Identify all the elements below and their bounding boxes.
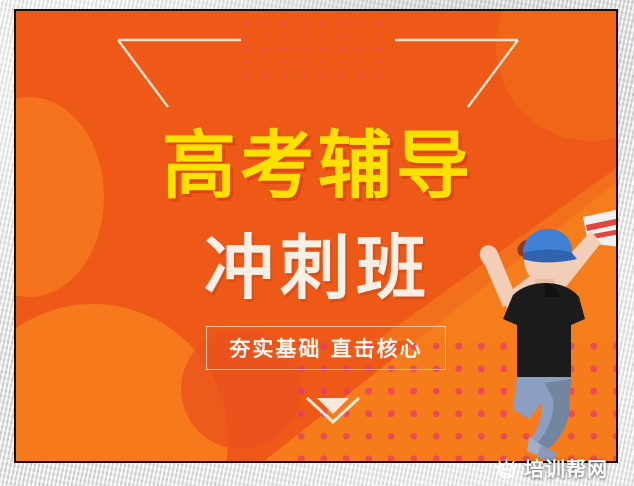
down-chevron-icon [303, 392, 363, 432]
page-title: 高考辅导 [16, 126, 616, 206]
dot-grid-top [235, 13, 383, 77]
watermark: 培训帮网 [495, 455, 608, 483]
poster-card: 高考辅导 冲刺班 夯实基础 直击核心 [14, 9, 618, 463]
tagline-text: 夯实基础 直击核心 [229, 333, 422, 363]
page-background: 高考辅导 冲刺班 夯实基础 直击核心 培训帮网 [0, 0, 634, 486]
sun-face-icon [495, 458, 518, 481]
page-subtitle: 冲刺班 [16, 230, 616, 306]
tagline-box: 夯实基础 直击核心 [206, 326, 446, 370]
watermark-text: 培训帮网 [524, 458, 608, 481]
poster-canvas: 高考辅导 冲刺班 夯实基础 直击核心 [16, 11, 616, 461]
circle-top-right [496, 11, 616, 141]
